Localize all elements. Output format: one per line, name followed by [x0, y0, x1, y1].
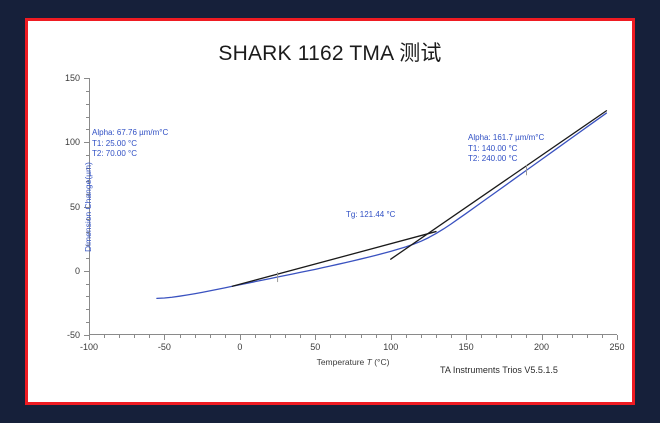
x-tick-minor — [149, 335, 150, 338]
y-tick-label: -50 — [67, 330, 80, 340]
x-tick-minor — [511, 335, 512, 338]
chart-series-canvas — [89, 78, 617, 335]
y-tick-label: 150 — [65, 73, 80, 83]
x-tick-minor — [210, 335, 211, 338]
x-tick-minor — [451, 335, 452, 338]
annotation-alpha-low: Alpha: 67.76 µm/m°C T1: 25.00 °C T2: 70.… — [92, 128, 168, 160]
x-tick-major — [466, 335, 467, 340]
x-axis-title: Temperature T (°C) — [317, 357, 390, 367]
x-tick-major — [89, 335, 90, 340]
x-tick-major — [240, 335, 241, 340]
annotation-tg: Tg: 121.44 °C — [346, 210, 395, 219]
x-tick-minor — [361, 335, 362, 338]
page-title: SHARK 1162 TMA 测试 — [28, 37, 632, 67]
x-tick-minor — [557, 335, 558, 338]
x-tick-major — [617, 335, 618, 340]
x-tick-minor — [330, 335, 331, 338]
x-axis-title-prefix: Temperature — [317, 357, 367, 367]
x-tick-minor — [119, 335, 120, 338]
x-tick-label: 0 — [237, 342, 242, 352]
x-tick-minor — [481, 335, 482, 338]
x-tick-label: 100 — [383, 342, 398, 352]
x-tick-minor — [587, 335, 588, 338]
x-axis-title-suffix: (°C) — [372, 357, 390, 367]
annotation-alpha-low-line1: Alpha: 67.76 µm/m°C — [92, 128, 168, 139]
x-tick-minor — [345, 335, 346, 338]
y-tick-label: 0 — [75, 266, 80, 276]
x-tick-minor — [406, 335, 407, 338]
annotation-alpha-high-line1: Alpha: 161.7 µm/m°C — [468, 133, 544, 144]
x-tick-minor — [255, 335, 256, 338]
x-tick-minor — [526, 335, 527, 338]
x-tick-minor — [436, 335, 437, 338]
slide-frame: SHARK 1162 TMA 测试 -50050100150 -100-5005… — [25, 18, 635, 405]
series-line — [232, 232, 436, 287]
x-tick-minor — [134, 335, 135, 338]
x-tick-major — [391, 335, 392, 340]
x-tick-minor — [572, 335, 573, 338]
x-tick-minor — [602, 335, 603, 338]
software-version-label: TA Instruments Trios V5.5.1.5 — [440, 365, 558, 375]
annotation-alpha-high: Alpha: 161.7 µm/m°C T1: 140.00 °C T2: 24… — [468, 133, 544, 165]
annotation-alpha-low-line2: T1: 25.00 °C — [92, 139, 168, 150]
x-tick-minor — [180, 335, 181, 338]
x-tick-major — [315, 335, 316, 340]
x-tick-minor — [421, 335, 422, 338]
y-tick-label: 100 — [65, 137, 80, 147]
slide-content: SHARK 1162 TMA 测试 -50050100150 -100-5005… — [28, 21, 632, 402]
x-tick-minor — [285, 335, 286, 338]
annotation-alpha-high-line2: T1: 140.00 °C — [468, 144, 544, 155]
x-tick-label: 150 — [459, 342, 474, 352]
y-tick-label: 50 — [70, 202, 80, 212]
x-tick-minor — [376, 335, 377, 338]
x-tick-label: -50 — [158, 342, 171, 352]
x-tick-label: 250 — [609, 342, 624, 352]
x-tick-minor — [104, 335, 105, 338]
x-tick-label: 200 — [534, 342, 549, 352]
x-tick-minor — [270, 335, 271, 338]
x-tick-major — [164, 335, 165, 340]
annotation-alpha-low-line3: T2: 70.00 °C — [92, 149, 168, 160]
chart-plot-area: -50050100150 -100-50050100150200250 Dime… — [89, 78, 617, 335]
x-tick-minor — [496, 335, 497, 338]
x-tick-label: -100 — [80, 342, 98, 352]
x-tick-minor — [225, 335, 226, 338]
annotation-alpha-high-line3: T2: 240.00 °C — [468, 154, 544, 165]
x-tick-minor — [300, 335, 301, 338]
x-tick-minor — [195, 335, 196, 338]
x-tick-label: 50 — [310, 342, 320, 352]
x-tick-major — [542, 335, 543, 340]
